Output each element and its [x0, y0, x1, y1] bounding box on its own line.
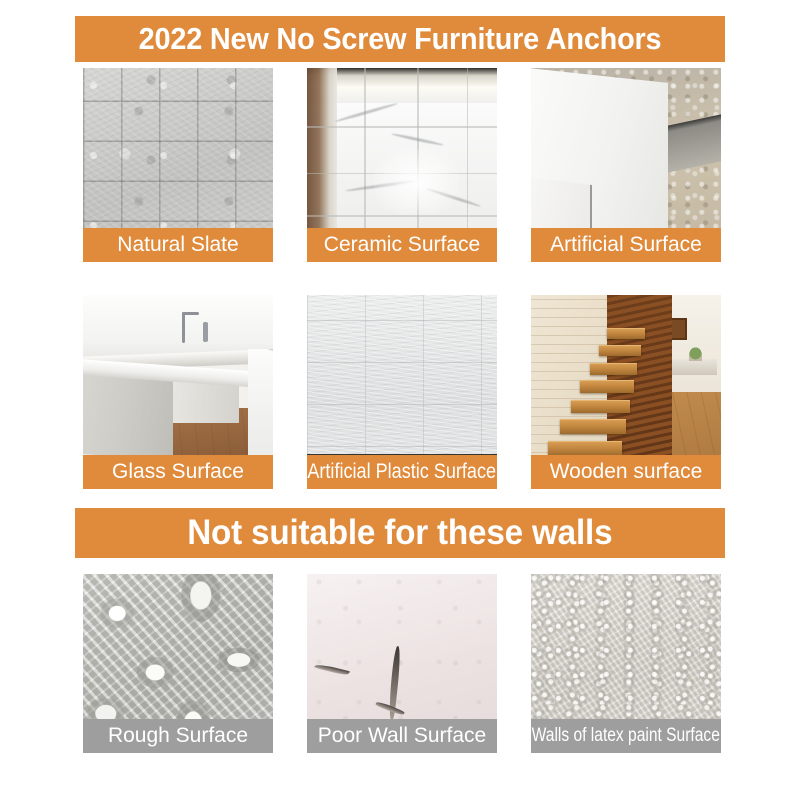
- crack-mark: [313, 663, 350, 675]
- unsuitable-card-label: Poor Wall Surface: [307, 719, 497, 753]
- top-banner-title: 2022 New No Screw Furniture Anchors: [139, 21, 662, 57]
- surface-card-natural-slate: Natural Slate: [83, 68, 273, 262]
- unsuitable-card-latex-paint-surface: Walls of latex paint Surface: [531, 574, 721, 753]
- middle-banner-title: Not suitable for these walls: [187, 513, 612, 553]
- stair-step: [548, 441, 622, 457]
- top-banner: 2022 New No Screw Furniture Anchors: [75, 16, 725, 62]
- surface-card-ceramic-surface: Ceramic Surface: [307, 68, 497, 262]
- stair-step: [580, 380, 633, 393]
- surface-card-artificial-surface: Artificial Surface: [531, 68, 721, 262]
- plant-icon: [689, 342, 702, 361]
- stair-step: [599, 345, 641, 356]
- island-body: [83, 373, 172, 461]
- grout-line: [307, 126, 497, 128]
- middle-banner: Not suitable for these walls: [75, 508, 725, 558]
- surface-card-glass-surface: Glass Surface: [83, 295, 273, 489]
- infographic-page: 2022 New No Screw Furniture Anchors Natu…: [0, 0, 800, 800]
- floor-reflection: [374, 149, 460, 215]
- stair-step: [607, 328, 645, 339]
- stair-step: [590, 363, 638, 375]
- soap-dispenser: [203, 322, 208, 341]
- grout-line: [307, 215, 497, 217]
- surface-card-label: Natural Slate: [83, 228, 273, 262]
- faucet-icon: [182, 312, 185, 343]
- surface-card-label: Wooden surface: [531, 455, 721, 489]
- unsuitable-card-poor-wall-surface: Poor Wall Surface: [307, 574, 497, 753]
- unsuitable-card-label: Rough Surface: [83, 719, 273, 753]
- surface-card-label: Glass Surface: [83, 455, 273, 489]
- unsuitable-card-rough-surface: Rough Surface: [83, 574, 273, 753]
- stair-step: [560, 419, 627, 434]
- console-table: [672, 359, 718, 375]
- surface-card-label: Artificial Surface: [531, 228, 721, 262]
- unsuitable-card-label: Walls of latex paint Surface: [531, 719, 721, 753]
- surface-card-artificial-plastic-surface: Artificial Plastic Surface: [307, 295, 497, 489]
- surface-card-label: Ceramic Surface: [307, 228, 497, 262]
- surface-card-wooden-surface: Wooden surface: [531, 295, 721, 489]
- surface-card-label: Artificial Plastic Surface: [307, 455, 497, 489]
- stair-step: [571, 400, 630, 414]
- marble-vein: [334, 102, 397, 123]
